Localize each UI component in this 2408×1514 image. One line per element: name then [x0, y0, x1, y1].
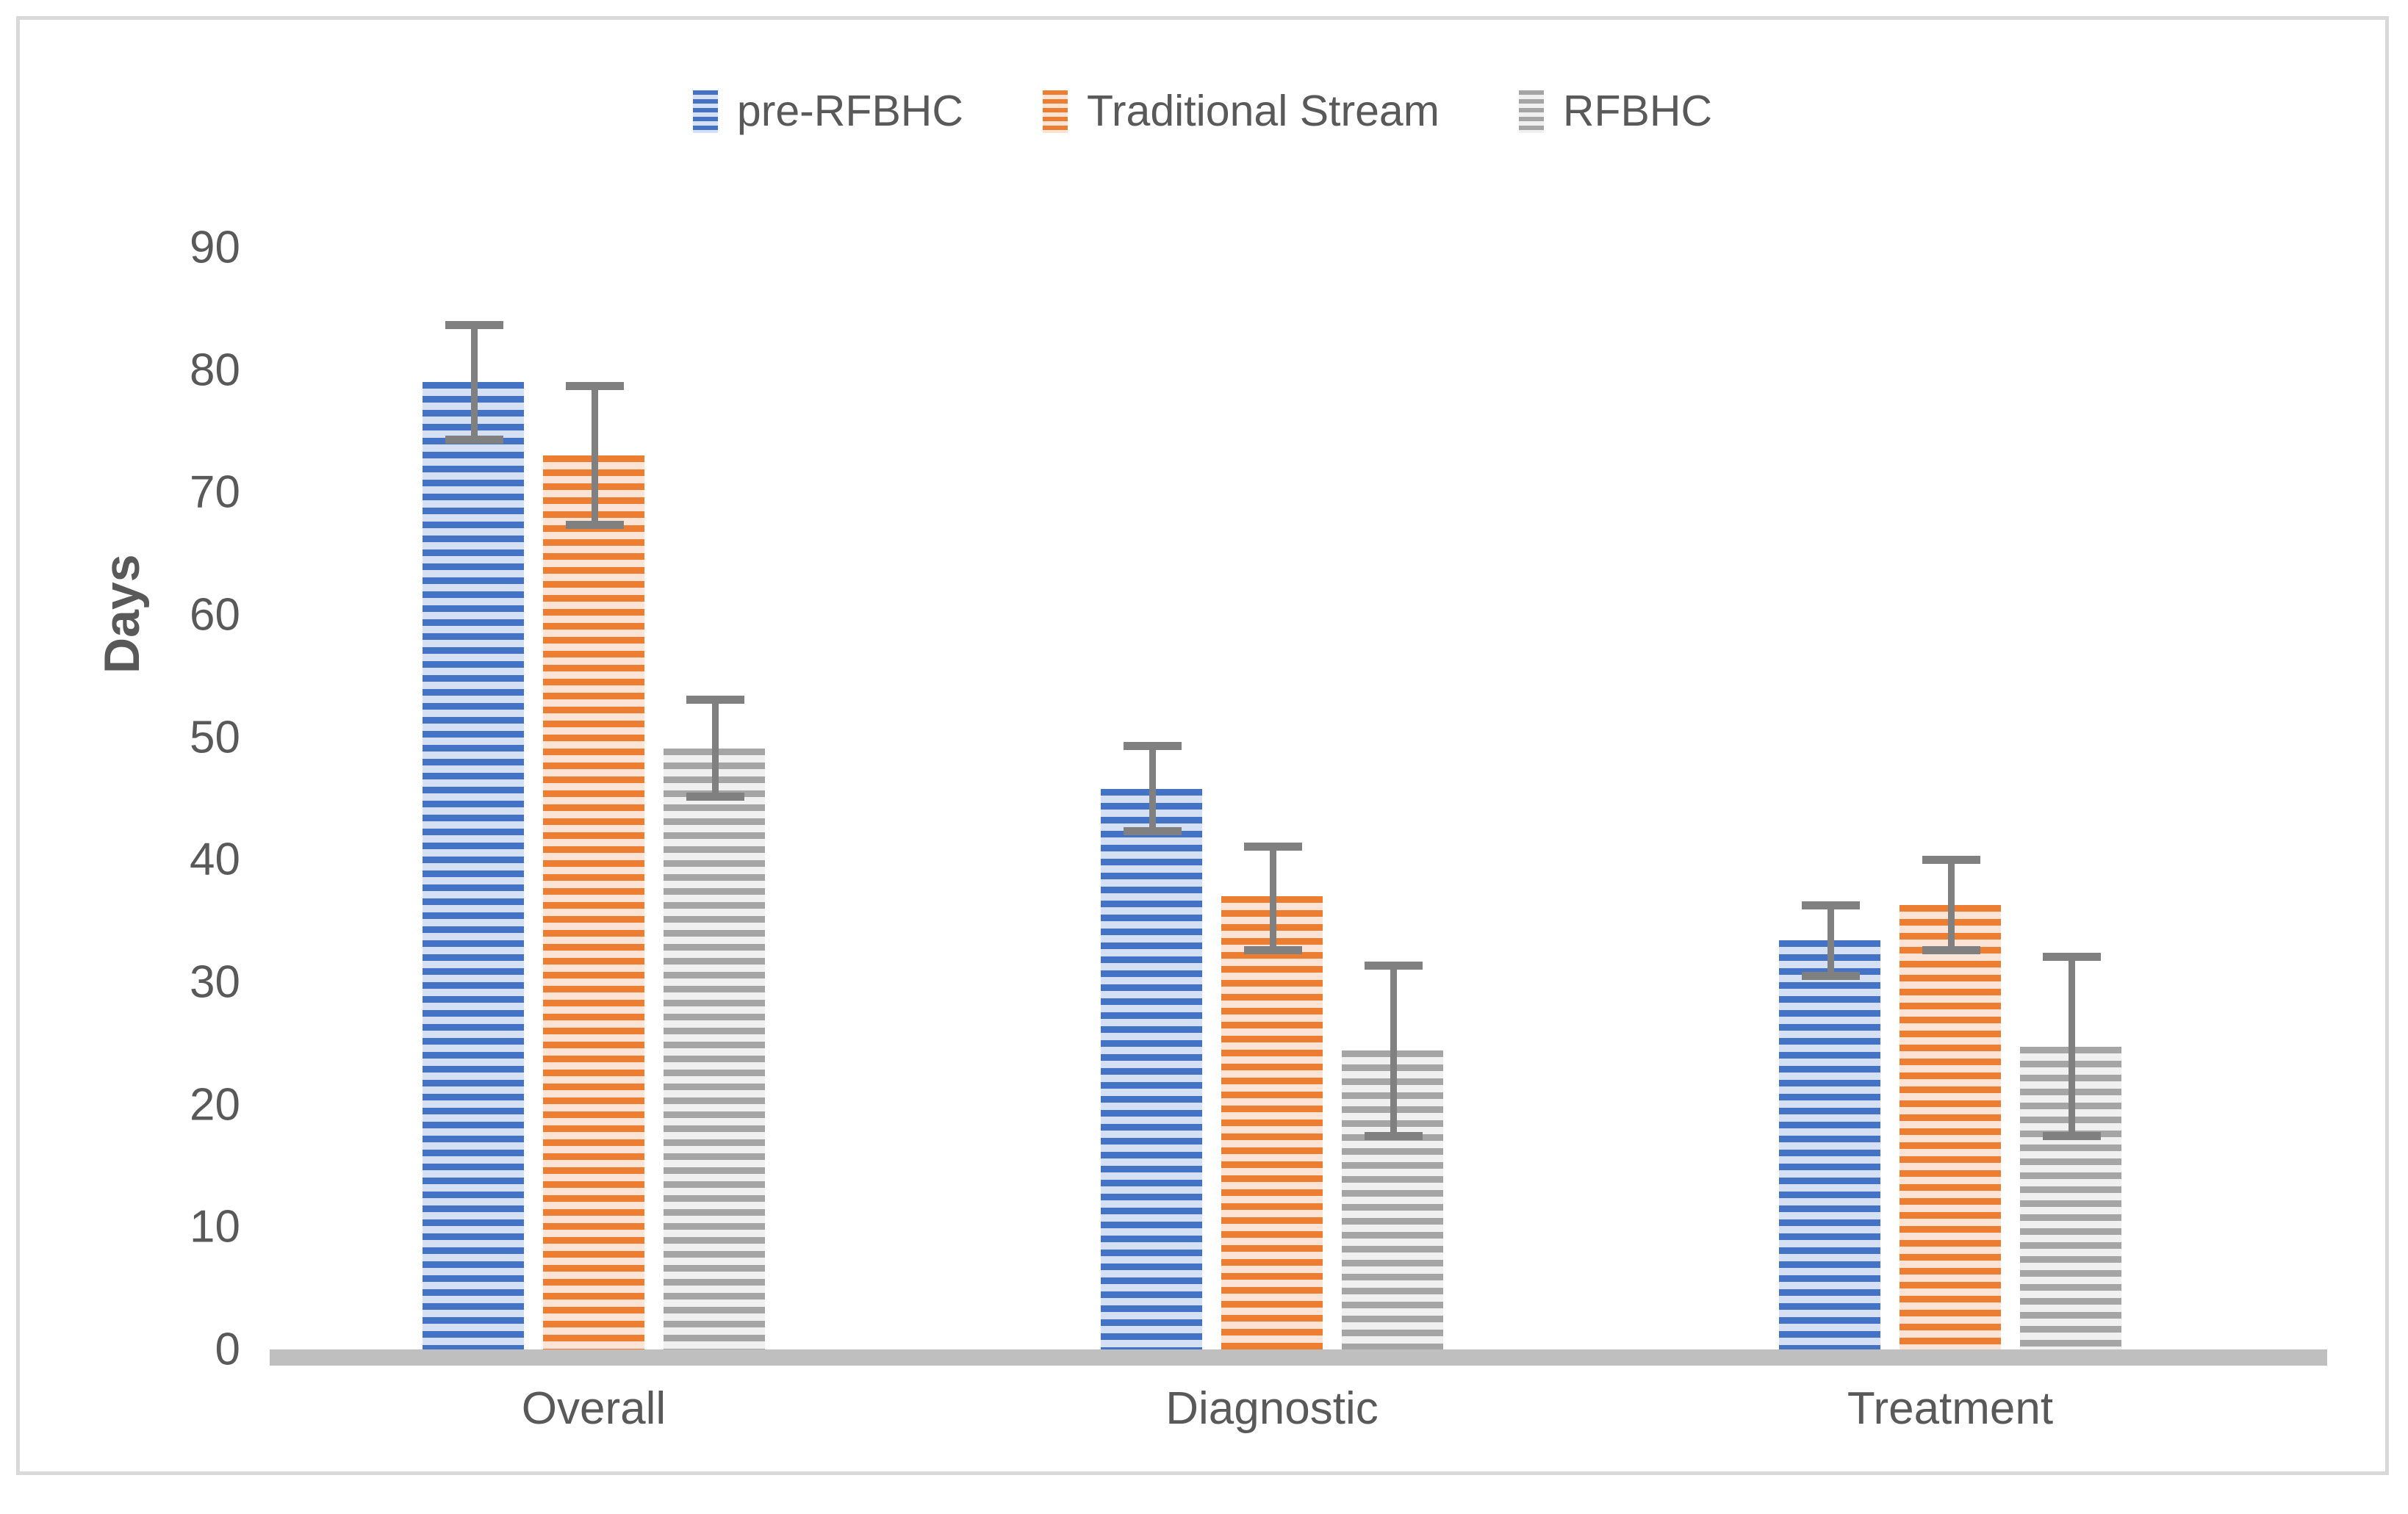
bar-diagnostic-pre-rfbhc[interactable] [1101, 789, 1202, 1349]
x-axis-label-treatment: Treatment [1779, 1383, 2121, 1435]
error-bar-stem [1149, 742, 1156, 835]
bar-slot [2020, 20, 2121, 1349]
error-bar-stem [1270, 843, 1276, 954]
bar-overall-pre-rfbhc[interactable] [423, 382, 524, 1349]
error-bar-cap-upper [445, 321, 503, 329]
error-bar-cap-upper [686, 696, 744, 704]
plot-area: OverallDiagnosticTreatment [20, 20, 2393, 1349]
bar-overall-traditional-stream[interactable] [543, 455, 644, 1349]
error-bar-stem [1827, 901, 1834, 980]
bar-slot [664, 20, 765, 1349]
error-bar-stem [2069, 953, 2075, 1140]
bar-slot [543, 20, 644, 1349]
error-bar-stem [712, 696, 719, 801]
error-bar-cap-lower [1922, 946, 1980, 954]
error-bar-stem [471, 321, 478, 444]
error-bar-cap-upper [1365, 962, 1423, 970]
error-bar-cap-upper [1244, 843, 1302, 851]
error-bar-cap-lower [1365, 1132, 1423, 1140]
chart-frame: pre-RFBHC Traditional Stream RFBHC Days … [16, 16, 2389, 1475]
bar-slot [1900, 20, 2001, 1349]
error-bar-cap-upper [1922, 856, 1980, 864]
bar-overall-rfbhc[interactable] [664, 749, 765, 1349]
x-axis-label-overall: Overall [423, 1383, 765, 1435]
bar-slot [1221, 20, 1323, 1349]
error-bar-cap-lower [686, 793, 744, 801]
bar-slot [1342, 20, 1443, 1349]
bar-diagnostic-traditional-stream[interactable] [1221, 896, 1323, 1349]
error-bar-cap-upper [1802, 901, 1860, 909]
error-bar-cap-lower [1244, 946, 1302, 954]
error-bar-cap-lower [445, 436, 503, 444]
x-axis-label-diagnostic: Diagnostic [1101, 1383, 1443, 1435]
error-bar-cap-upper [566, 382, 624, 390]
error-bar-stem [1948, 856, 1955, 954]
error-bar-cap-lower [1124, 827, 1182, 835]
error-bar-cap-upper [1124, 742, 1182, 750]
error-bar-cap-upper [2043, 953, 2101, 961]
error-bar-stem [1390, 962, 1397, 1140]
error-bar-cap-lower [566, 521, 624, 529]
bar-slot [423, 20, 524, 1349]
bar-slot [1779, 20, 1880, 1349]
bar-treatment-pre-rfbhc[interactable] [1779, 940, 1880, 1349]
error-bar-stem [592, 382, 598, 529]
error-bar-cap-lower [2043, 1132, 2101, 1140]
bar-slot [1101, 20, 1202, 1349]
x-axis-baseline [270, 1349, 2327, 1366]
error-bar-cap-lower [1802, 972, 1860, 980]
bar-treatment-traditional-stream[interactable] [1900, 905, 2001, 1349]
